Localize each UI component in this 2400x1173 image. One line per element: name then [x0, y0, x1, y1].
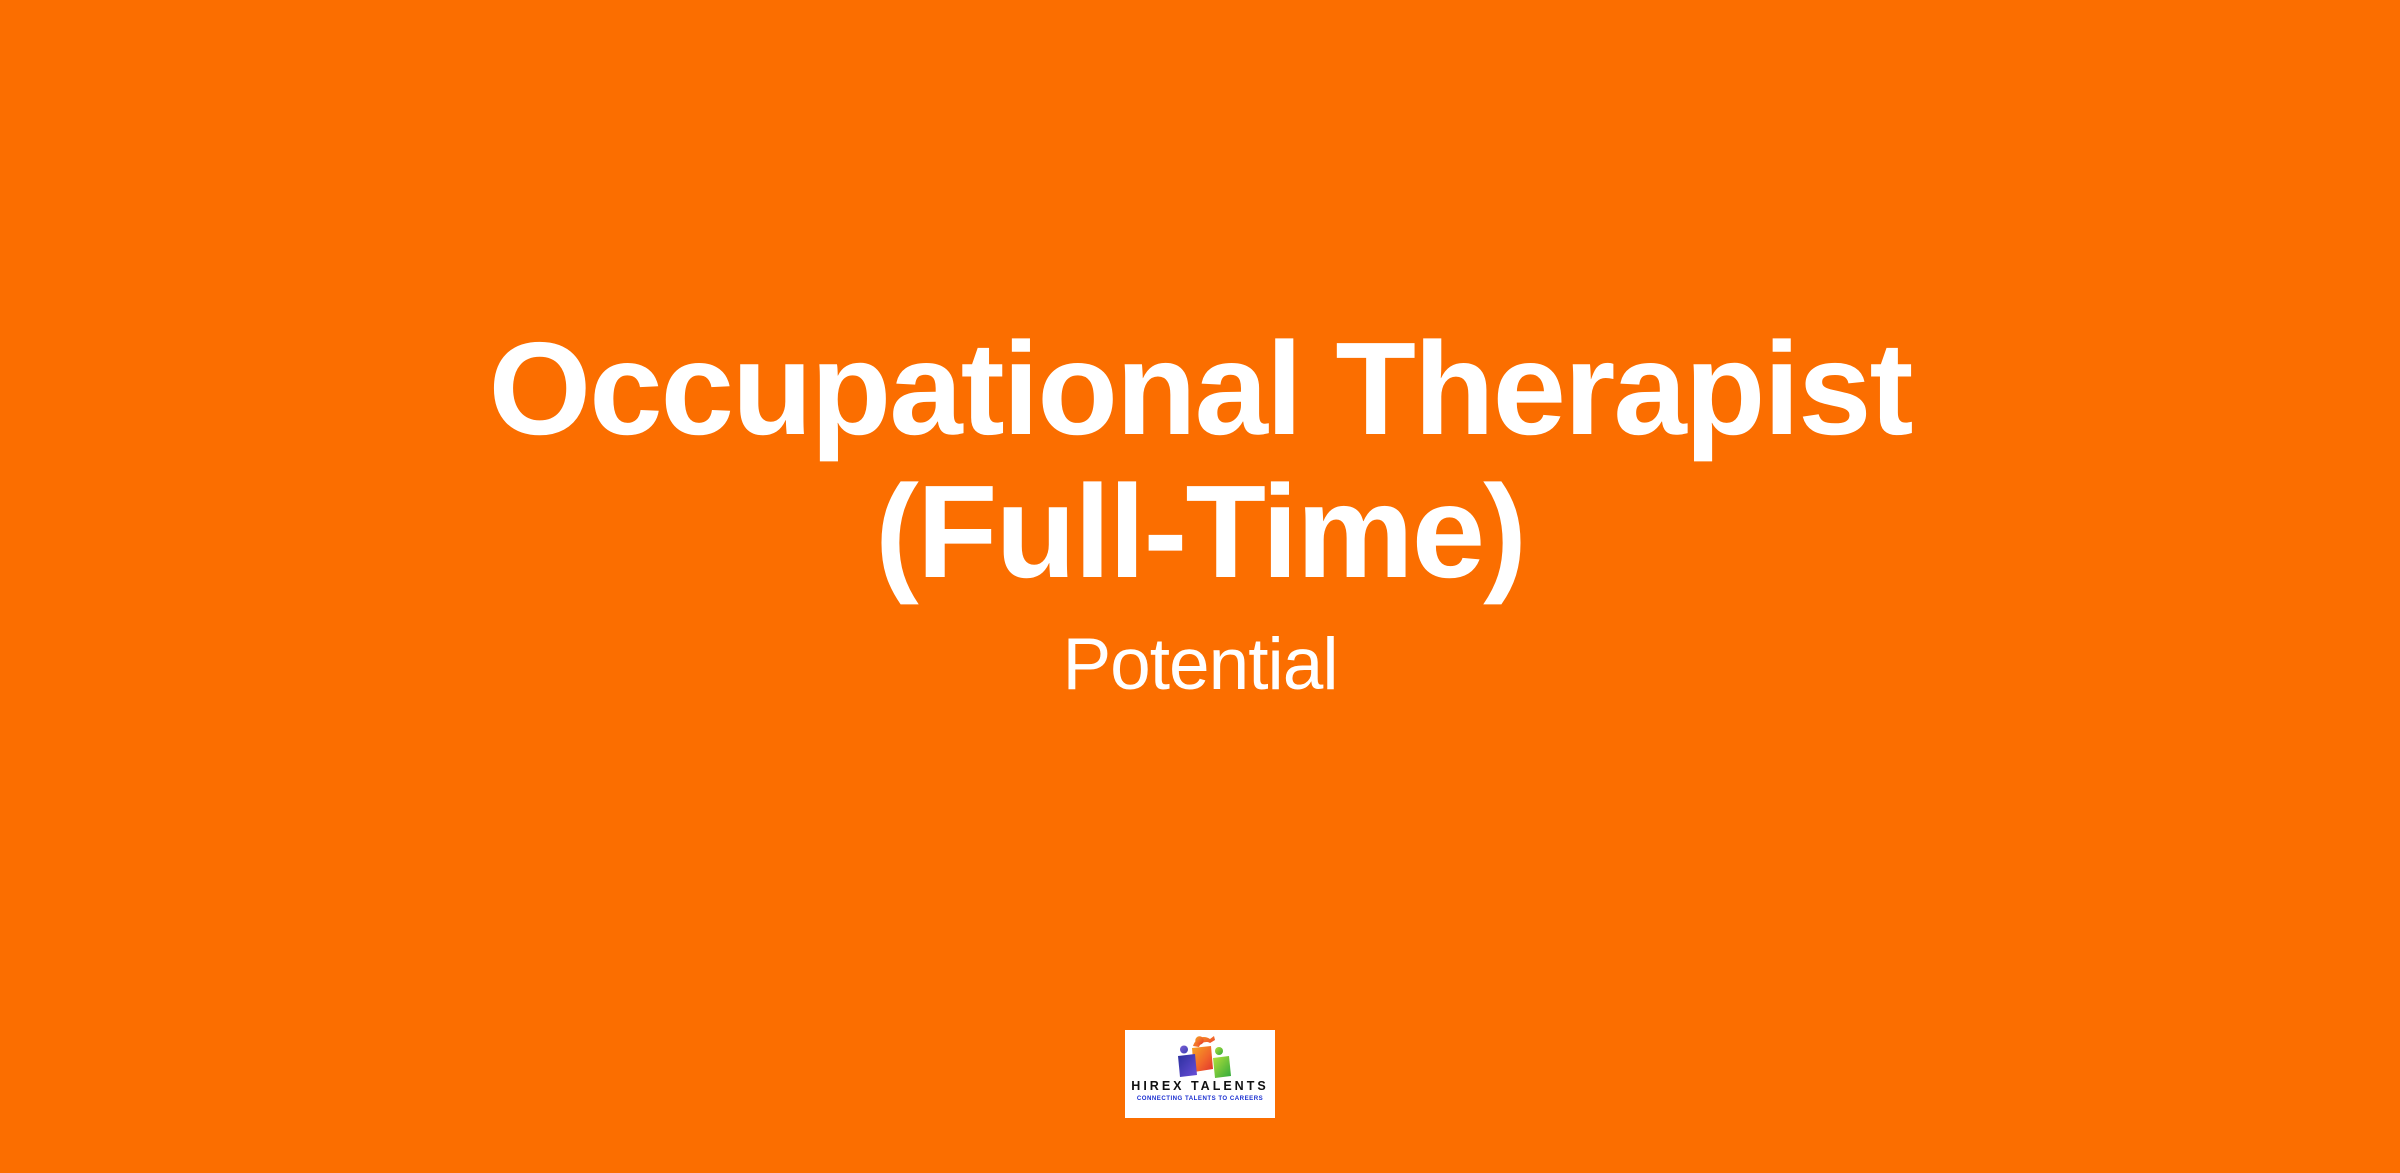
logo-company-name: HIREX TALENTS	[1131, 1080, 1268, 1093]
page-subtitle: Potential	[1062, 623, 1337, 707]
job-posting-slide: Occupational Therapist (Full-Time) Poten…	[0, 0, 2400, 1173]
company-logo: HIREX TALENTS CONNECTING TALENTS TO CARE…	[1125, 1030, 1275, 1118]
hero-text-block: Occupational Therapist (Full-Time) Poten…	[0, 318, 2400, 707]
page-title: Occupational Therapist (Full-Time)	[400, 318, 2000, 603]
hirex-talents-figures-icon	[1163, 1034, 1237, 1078]
logo-tagline: CONNECTING TALENTS TO CAREERS	[1137, 1096, 1263, 1102]
